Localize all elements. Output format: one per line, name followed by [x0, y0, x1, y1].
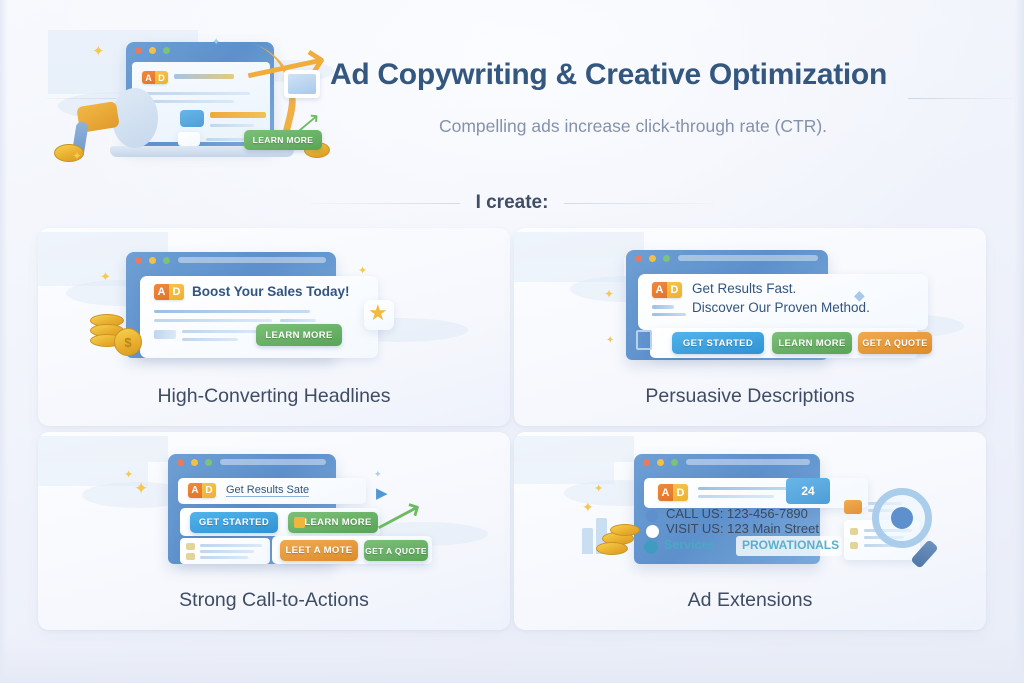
ad-badge-d: D — [667, 282, 682, 298]
sparkle-icon: ✦ — [374, 470, 382, 479]
search-row-panel: A D Get Results Sate — [178, 478, 366, 504]
ad-badge-d: D — [673, 484, 688, 501]
ad-headline-placeholder — [174, 74, 234, 79]
text-line — [210, 124, 254, 127]
badge-number: 24 — [786, 478, 830, 504]
sparkle-icon: ✦ — [134, 480, 148, 497]
text-line — [652, 305, 674, 309]
visit-us-text: VISIT US: 123 Main Street — [666, 521, 819, 536]
star-icon: ★ — [368, 302, 388, 324]
sparkle-icon: ✦ — [124, 470, 133, 481]
ad-badge: A D — [652, 282, 682, 298]
sparkle-icon: ◆ — [854, 288, 865, 302]
sparkle-icon: ✦ — [358, 266, 367, 277]
browser-url-bar — [686, 459, 810, 465]
decor-blob — [38, 436, 168, 462]
card-high-converting-headlines[interactable]: A D Boost Your Sales Today! LEARN MORE — [38, 228, 510, 426]
bullet-square — [186, 553, 195, 560]
promotions-link[interactable]: PROWATIONALS — [742, 538, 839, 552]
small-panel — [178, 132, 200, 146]
text-lines-panel — [180, 538, 270, 564]
clipboard-icon — [636, 330, 652, 350]
card-illustration: A D Boost Your Sales Today! LEARN MORE — [38, 232, 510, 370]
hero-text-block: Ad Copywriting & Creative Optimization C… — [330, 58, 930, 137]
window-minimize-dot — [191, 459, 198, 466]
card-illustration: A D 24 CALL US: 123-456-7890 VISIT US: 1… — [514, 436, 986, 574]
cta-row-panel-2: LEET A MOTE GET A QUOTE — [272, 536, 432, 564]
hero-section: A D — [0, 18, 1024, 188]
card-title: Persuasive Descriptions — [514, 385, 986, 408]
window-minimize-dot — [657, 459, 664, 466]
window-maximize-dot — [205, 459, 212, 466]
feature-card-grid: A D Boost Your Sales Today! LEARN MORE — [38, 228, 986, 642]
ad-badge: A D — [154, 284, 184, 300]
ad-badge-d: D — [169, 284, 184, 300]
browser-url-bar — [220, 459, 326, 465]
card-cta-button[interactable]: LEARN MORE — [256, 324, 342, 346]
card-persuasive-descriptions[interactable]: A D Get Results Fast. Discover Our Prove… — [514, 228, 986, 426]
sparkle-icon: ✦ — [594, 484, 603, 495]
checkbox-icon — [294, 517, 305, 528]
bullet-square — [850, 542, 858, 549]
ad-subline: Discover Our Proven Method. — [692, 300, 870, 315]
browser-titlebar — [626, 250, 828, 266]
sparkle-icon: ✦ — [604, 288, 614, 300]
window-maximize-dot — [671, 459, 678, 466]
ad-headline: Get Results Fast. — [692, 281, 796, 296]
ad-badge-a: A — [142, 71, 155, 84]
decor-blob — [514, 232, 644, 258]
sparkle-icon: ✦ — [92, 44, 105, 59]
page-title: Ad Copywriting & Creative Optimization — [330, 58, 930, 92]
image-card — [284, 70, 320, 98]
bullet-square — [850, 528, 858, 535]
text-line — [182, 330, 262, 333]
play-arrow-icon: ▶ — [376, 484, 388, 502]
ad-badge-a: A — [652, 282, 667, 298]
link-icon — [644, 540, 658, 554]
cta-row-panel: GET STARTED LEARN MORE — [180, 508, 380, 536]
card-cta-button[interactable]: GET A QUOTE — [364, 540, 428, 561]
ad-preview-panel: A D Get Results Fast. Discover Our Prove… — [638, 274, 928, 330]
hero-illustration: A D — [48, 30, 348, 192]
card-title: Strong Call-to-Actions — [38, 589, 510, 612]
text-line — [698, 495, 774, 498]
cta-row-panel: GET STARTED LEARN MORE GET A QUOTE — [650, 328, 918, 358]
ad-headline: Boost Your Sales Today! — [192, 284, 350, 299]
card-title: High-Converting Headlines — [38, 385, 510, 408]
image-thumb — [288, 74, 316, 94]
window-minimize-dot — [149, 257, 156, 264]
section-heading-label: I create: — [476, 192, 549, 214]
image-extension-icon — [844, 500, 862, 514]
window-close-dot — [135, 47, 142, 54]
location-pin-icon — [646, 525, 659, 538]
bullet-square — [186, 543, 195, 550]
coin — [610, 524, 640, 536]
sparkle-icon: ✦ — [606, 336, 614, 346]
window-close-dot — [135, 257, 142, 264]
page-bottom-edge — [0, 637, 1024, 683]
browser-url-bar — [678, 255, 818, 261]
card-cta-button[interactable]: GET STARTED — [672, 332, 764, 354]
ad-badge-a: A — [154, 284, 169, 300]
section-divider-left — [310, 203, 460, 204]
window-maximize-dot — [163, 257, 170, 264]
magnifier-icon — [872, 488, 932, 548]
sparkle-icon: ✦ — [582, 500, 594, 514]
window-minimize-dot — [149, 47, 156, 54]
phone-icon — [646, 510, 658, 522]
window-maximize-dot — [663, 255, 670, 262]
card-strong-call-to-actions[interactable]: A D Get Results Sate ▶ GET STARTED LEARN… — [38, 432, 510, 630]
window-close-dot — [635, 255, 642, 262]
browser-url-bar — [178, 257, 326, 263]
coin-dollar: $ — [114, 328, 142, 356]
text-line — [200, 556, 248, 559]
magnifier-center — [891, 507, 913, 529]
text-line — [280, 319, 316, 322]
coin — [596, 542, 628, 555]
ad-badge: A D — [188, 483, 216, 498]
window-minimize-dot — [649, 255, 656, 262]
sparkle-icon: ✦ — [72, 150, 82, 162]
services-link[interactable]: Services — [664, 538, 715, 552]
window-maximize-dot — [163, 47, 170, 54]
window-close-dot — [177, 459, 184, 466]
browser-titlebar — [126, 252, 336, 268]
text-line — [154, 319, 272, 322]
text-line — [154, 310, 310, 313]
dollar-icon: $ — [115, 329, 141, 355]
ad-badge-a: A — [188, 483, 202, 498]
megaphone-cone — [112, 88, 158, 148]
card-illustration: A D Get Results Fast. Discover Our Prove… — [514, 232, 986, 370]
card-cta-button[interactable]: LEARN MORE — [772, 332, 852, 354]
call-us-text: CALL US: 123-456-7890 — [666, 506, 808, 521]
ad-badge: A D — [658, 484, 688, 501]
ad-header-panel: A D — [644, 478, 868, 508]
text-line — [182, 338, 238, 341]
page-subtitle: Compelling ads increase click-through ra… — [330, 116, 930, 137]
decor-blob — [514, 258, 624, 282]
section-divider-right — [564, 203, 714, 204]
text-block — [154, 330, 176, 339]
sparkle-icon: ✦ — [212, 38, 220, 48]
window-close-dot — [643, 459, 650, 466]
browser-titlebar — [168, 454, 336, 470]
browser-titlebar — [634, 454, 820, 470]
ad-badge-d: D — [202, 483, 216, 498]
card-illustration: A D Get Results Sate ▶ GET STARTED LEARN… — [38, 436, 510, 574]
text-line — [652, 313, 686, 316]
hero-learn-more-button[interactable]: LEARN MORE — [244, 130, 322, 150]
badge-tile: 24 — [786, 478, 830, 504]
chart-bar — [582, 528, 593, 554]
card-ad-extensions[interactable]: A D 24 CALL US: 123-456-7890 VISIT US: 1… — [514, 432, 986, 630]
card-cta-button[interactable]: GET STARTED — [190, 512, 278, 533]
ad-preview-panel: A D Boost Your Sales Today! LEARN MORE — [140, 276, 378, 358]
ad-badge-d: D — [155, 71, 168, 84]
card-cta-button[interactable]: LEET A MOTE — [280, 540, 358, 561]
text-line — [200, 550, 254, 553]
sparkle-icon: ✦ — [100, 270, 111, 283]
section-heading: I create: — [0, 186, 1024, 220]
text-line — [142, 100, 234, 103]
decor-blob — [514, 436, 634, 462]
thumbnail-tile — [180, 110, 204, 127]
card-title: Ad Extensions — [514, 589, 986, 612]
text-line — [200, 544, 262, 547]
decor-blob — [514, 462, 614, 484]
card-cta-button[interactable]: GET A QUOTE — [858, 332, 932, 354]
page-root: A D — [0, 0, 1024, 683]
ad-badge: A D — [142, 71, 168, 84]
ad-headline: Get Results Sate — [226, 484, 309, 497]
ad-badge-a: A — [658, 484, 673, 501]
